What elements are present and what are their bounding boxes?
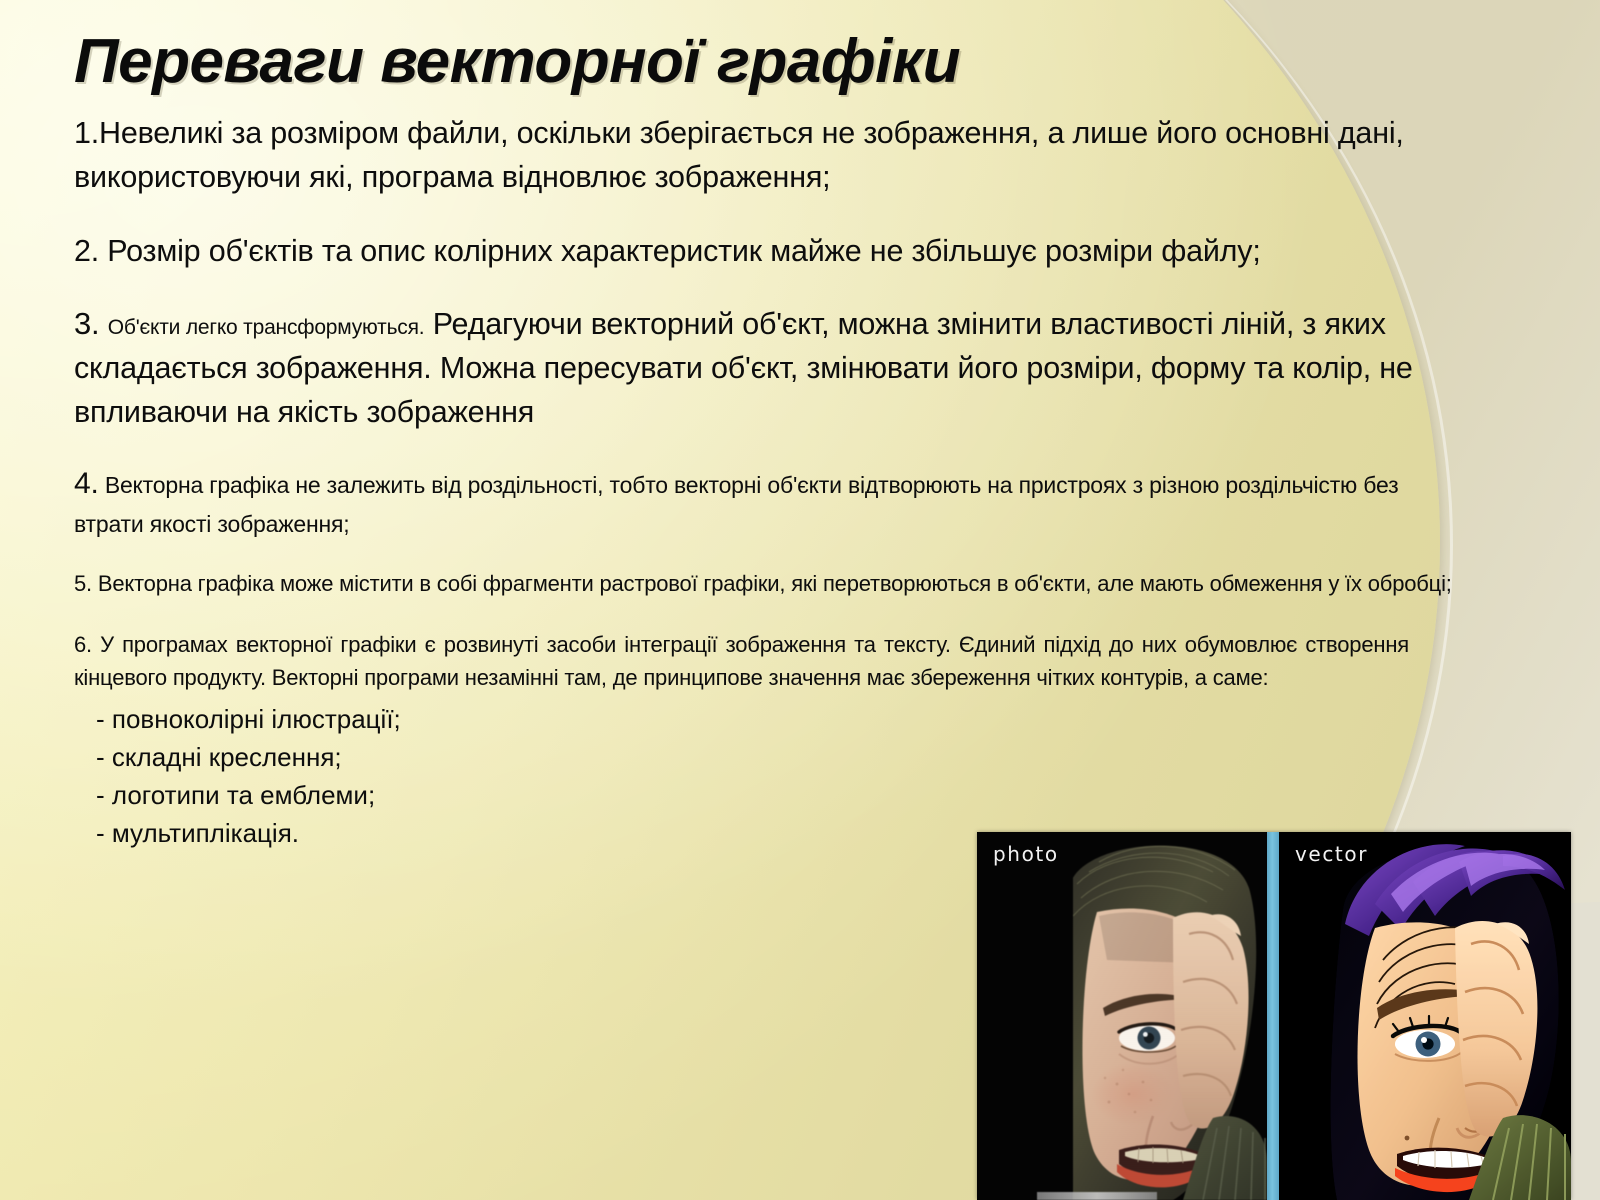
advantage-item-2: 2. Розмір об'єктів та опис колірних хара… (74, 230, 1494, 274)
page-title: Переваги векторної графіки (74, 26, 960, 97)
advantage-item-3-small-run: Об'єкти легко трансформуються. (108, 316, 425, 339)
body-text-area: 1.Невеликі за розміром файли, оскільки з… (74, 112, 1494, 853)
advantage-item-1: 1.Невеликі за розміром файли, оскільки з… (74, 112, 1444, 200)
vector-portrait-art (1279, 832, 1571, 1200)
advantage-item-5: 5. Векторна графіка може містити в собі … (74, 567, 1474, 600)
list-item: - логотипи та емблеми; (96, 777, 1494, 815)
vector-pane: vector (1279, 832, 1571, 1200)
photo-filmstrip-edge (1037, 1192, 1157, 1200)
vector-pane-label: vector (1295, 842, 1368, 866)
photo-portrait-art (977, 832, 1267, 1200)
list-item: - складні креслення; (96, 739, 1494, 777)
slide-canvas: Переваги векторної графіки 1.Невеликі за… (0, 0, 1600, 1200)
advantage-item-6: 6. У програмах векторної графіки є розви… (74, 628, 1409, 695)
advantage-item-3-number: 3. (74, 306, 99, 341)
photo-vector-comparison-image: photo (977, 832, 1571, 1200)
advantage-item-4: 4. Векторна графіка не залежить від розд… (74, 462, 1464, 540)
usage-bullet-list: - повноколірні ілюстрації; - складні кре… (74, 701, 1494, 853)
slide-content: Переваги векторної графіки 1.Невеликі за… (0, 0, 1600, 1200)
panel-divider (1267, 832, 1279, 1200)
photo-pane-label: photo (993, 842, 1059, 866)
advantage-item-4-text: Векторна графіка не залежить від розділь… (74, 472, 1398, 536)
advantage-item-3: 3. Об'єкти легко трансформуються. Редагу… (74, 302, 1486, 435)
list-item: - повноколірні ілюстрації; (96, 701, 1494, 739)
advantage-item-4-number: 4. (74, 467, 99, 500)
photo-pane: photo (977, 832, 1267, 1200)
